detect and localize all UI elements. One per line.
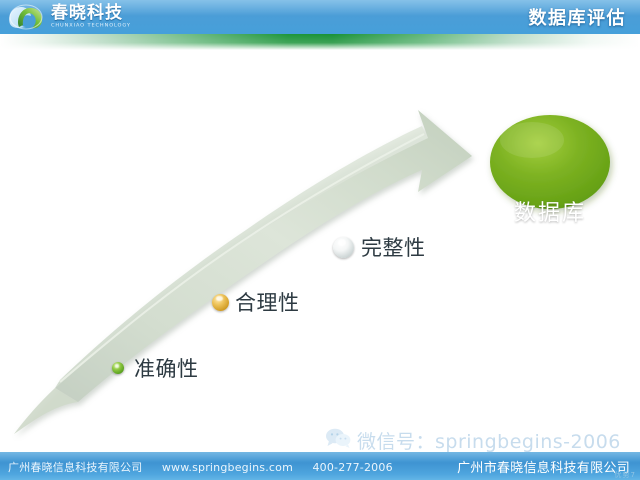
growth-arrow-diagram bbox=[0, 50, 640, 452]
brand-logo[interactable]: 春晓科技 CHUNXIAO TECHNOLOGY bbox=[6, 2, 131, 32]
header-green-divider bbox=[0, 34, 640, 50]
milestone-node-accuracy[interactable]: 准确性 bbox=[112, 353, 199, 383]
wechat-watermark: 微信号：springbegins-2006 bbox=[325, 427, 621, 454]
footer-phone: 400-277-2006 bbox=[312, 461, 392, 474]
app-footer: 广州春晓信息科技有限公司 www.springbegins.com 400-27… bbox=[0, 452, 640, 480]
gold-bead-icon bbox=[212, 294, 229, 311]
milestone-node-rationality[interactable]: 合理性 bbox=[212, 287, 300, 317]
milestone-label-accuracy: 准确性 bbox=[134, 353, 199, 383]
logo-chinese-name: 春晓科技 bbox=[51, 5, 131, 22]
milestone-node-completeness[interactable]: 完整性 bbox=[333, 232, 426, 262]
footer-contact-info: 广州春晓信息科技有限公司 www.springbegins.com 400-27… bbox=[8, 459, 393, 475]
footer-company-name: 广州春晓信息科技有限公司 bbox=[8, 461, 142, 474]
footer-website[interactable]: www.springbegins.com bbox=[162, 461, 293, 474]
wechat-id-text: 微信号：springbegins-2006 bbox=[357, 427, 621, 454]
footer-corner-mark: 优势7 bbox=[615, 470, 636, 480]
logo-english-name: CHUNXIAO TECHNOLOGY bbox=[51, 24, 131, 29]
database-ellipse bbox=[490, 115, 610, 209]
page-title: 数据库评估 bbox=[529, 4, 627, 30]
milestone-label-rationality: 合理性 bbox=[235, 287, 300, 317]
curved-arrow-shape bbox=[14, 110, 472, 434]
green-bead-icon bbox=[112, 362, 124, 374]
app-header: 春晓科技 CHUNXIAO TECHNOLOGY 数据库评估 bbox=[0, 0, 640, 34]
chunxiao-logo-icon bbox=[6, 2, 46, 32]
footer-company-right: 广州市春晓信息科技有限公司 bbox=[457, 457, 630, 476]
wechat-icon bbox=[325, 427, 351, 454]
silver-bead-icon bbox=[333, 237, 354, 258]
milestone-label-completeness: 完整性 bbox=[361, 232, 426, 262]
slide-content: 数据库 完整性 合理性 准确性 bbox=[0, 50, 640, 452]
